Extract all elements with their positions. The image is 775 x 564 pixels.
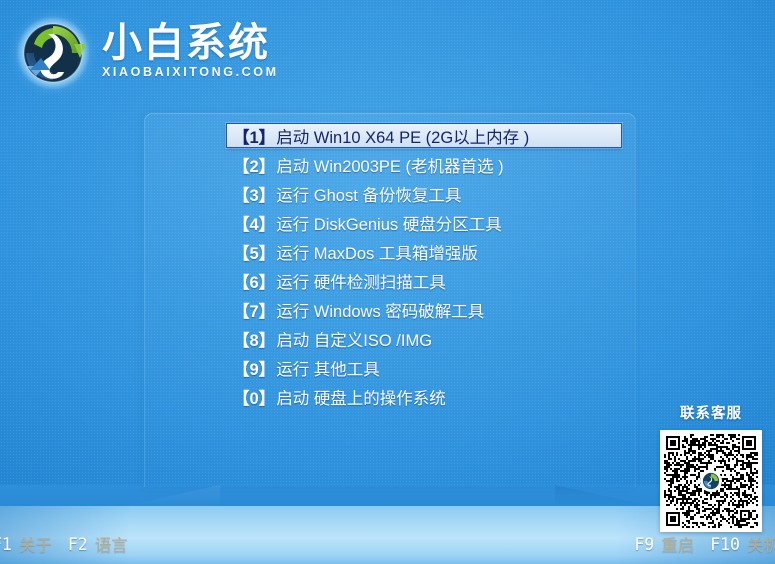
menu-panel: 【1】启动 Win10 X64 PE (2G以上内存 )【2】启动 Win200… [144,113,636,487]
menu-item-key: 【9】 [233,356,275,380]
footer-key-f10: F10 [710,535,740,554]
recycle-circle-icon [14,14,92,92]
menu-item-key: 【3】 [233,182,275,206]
menu-item-4[interactable]: 【4】运行 DiskGenius 硬盘分区工具 [226,210,622,235]
menu-item-label: 启动 Win10 X64 PE (2G以上内存 ) [276,124,529,148]
menu-item-label: 运行 Ghost 备份恢复工具 [276,182,461,206]
menu-item-label: 运行 Windows 密码破解工具 [276,298,484,322]
footer-action-f10[interactable]: 关机 [747,532,775,556]
footer-key-f1: F1 [0,535,12,554]
footer-key-f9: F9 [634,535,654,554]
footer-action-f2[interactable]: 语言 [95,532,128,556]
menu-item-key: 【5】 [233,240,275,264]
brand-wordmark: 小白系统 XIAOBAIXITONG.COM [102,23,279,83]
boot-menu-screen: 小白系统 XIAOBAIXITONG.COM 【1】启动 Win10 X64 P… [0,0,775,564]
menu-item-2[interactable]: 【2】启动 Win2003PE (老机器首选 ) [226,152,622,177]
brand-logo: 小白系统 XIAOBAIXITONG.COM [14,14,279,92]
menu-item-5[interactable]: 【5】运行 MaxDos 工具箱增强版 [226,239,622,264]
qr-center-logo-icon [700,470,722,492]
menu-item-10[interactable]: 【0】启动 硬盘上的操作系统 [226,384,622,409]
footer-hints-left: F1关于F2语言 [0,532,128,556]
menu-item-3[interactable]: 【3】运行 Ghost 备份恢复工具 [226,181,622,206]
footer-action-f1[interactable]: 关于 [19,532,52,556]
menu-item-label: 运行 其他工具 [276,356,380,380]
menu-item-label: 运行 MaxDos 工具箱增强版 [276,240,478,264]
menu-item-key: 【0】 [233,385,275,409]
menu-item-key: 【4】 [233,211,275,235]
footer-hints-right: F9重启F10关机 [634,532,775,556]
footer-key-f2: F2 [68,535,88,554]
contact-support-label: 联系客服 [680,402,742,423]
menu-item-7[interactable]: 【7】运行 Windows 密码破解工具 [226,297,622,322]
menu-item-label: 启动 Win2003PE (老机器首选 ) [276,153,503,177]
menu-item-key: 【2】 [233,153,275,177]
menu-item-8[interactable]: 【8】启动 自定义ISO /IMG [226,326,622,351]
menu-item-1[interactable]: 【1】启动 Win10 X64 PE (2G以上内存 ) [226,123,622,148]
brand-title: 小白系统 [102,23,279,63]
menu-item-key: 【7】 [233,298,275,322]
menu-item-key: 【8】 [233,327,275,351]
contact-support-block: 联系客服 [655,402,767,532]
menu-item-label: 启动 硬盘上的操作系统 [276,385,446,409]
menu-item-key: 【1】 [233,124,275,148]
menu-item-label: 启动 自定义ISO /IMG [276,327,432,351]
boot-menu-list[interactable]: 【1】启动 Win10 X64 PE (2G以上内存 )【2】启动 Win200… [144,113,636,413]
menu-item-9[interactable]: 【9】运行 其他工具 [226,355,622,380]
menu-item-6[interactable]: 【6】运行 硬件检测扫描工具 [226,268,622,293]
menu-item-label: 运行 硬件检测扫描工具 [276,269,446,293]
menu-item-key: 【6】 [233,269,275,293]
menu-item-label: 运行 DiskGenius 硬盘分区工具 [276,211,502,235]
footer-action-f9[interactable]: 重启 [661,532,694,556]
qr-code-icon [660,430,762,532]
brand-domain: XIAOBAIXITONG.COM [102,65,279,79]
